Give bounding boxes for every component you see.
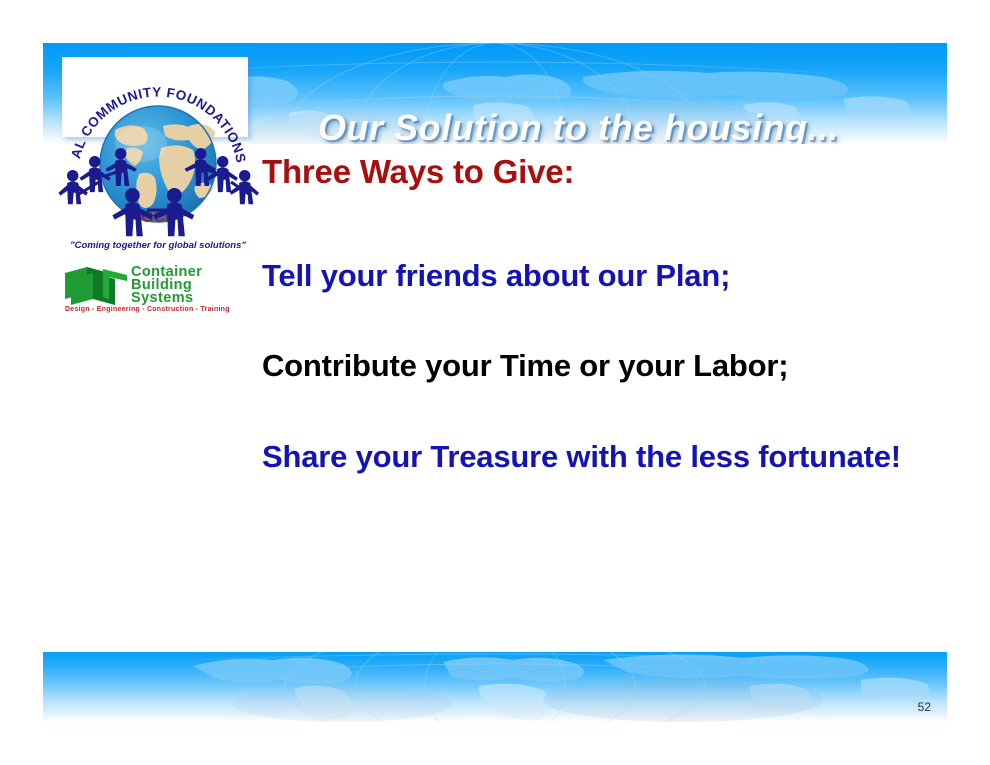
body-heading: Three Ways to Give: — [262, 150, 922, 194]
gcf-logo: GLOBAL COMMUNITY FOUNDATIONS.ORG GCF — [55, 52, 260, 257]
give-item-3: Share your Treasure with the less fortun… — [262, 437, 922, 478]
give-item-1: Tell your friends about our Plan; — [262, 256, 922, 297]
cbs-line-3: Systems — [131, 290, 193, 306]
cbs-subtitle: Design - Engineering - Construction - Tr… — [65, 306, 230, 313]
footer-world-map-graphic — [43, 652, 947, 722]
container-building-systems-logo: Container Building Systems Design - Engi… — [57, 259, 253, 314]
slide-body: Three Ways to Give: Tell your friends ab… — [262, 150, 922, 478]
slide-number: 52 — [918, 700, 931, 714]
gcf-tagline: "Coming together for global solutions" — [70, 240, 246, 251]
give-item-2: Contribute your Time or your Labor; — [262, 346, 922, 387]
slide-header-title: Our Solution to the housing... — [318, 107, 839, 144]
slide-canvas: Our Solution to the housing... GLOBAL CO… — [0, 0, 990, 765]
footer-banner: 52 — [43, 652, 947, 722]
